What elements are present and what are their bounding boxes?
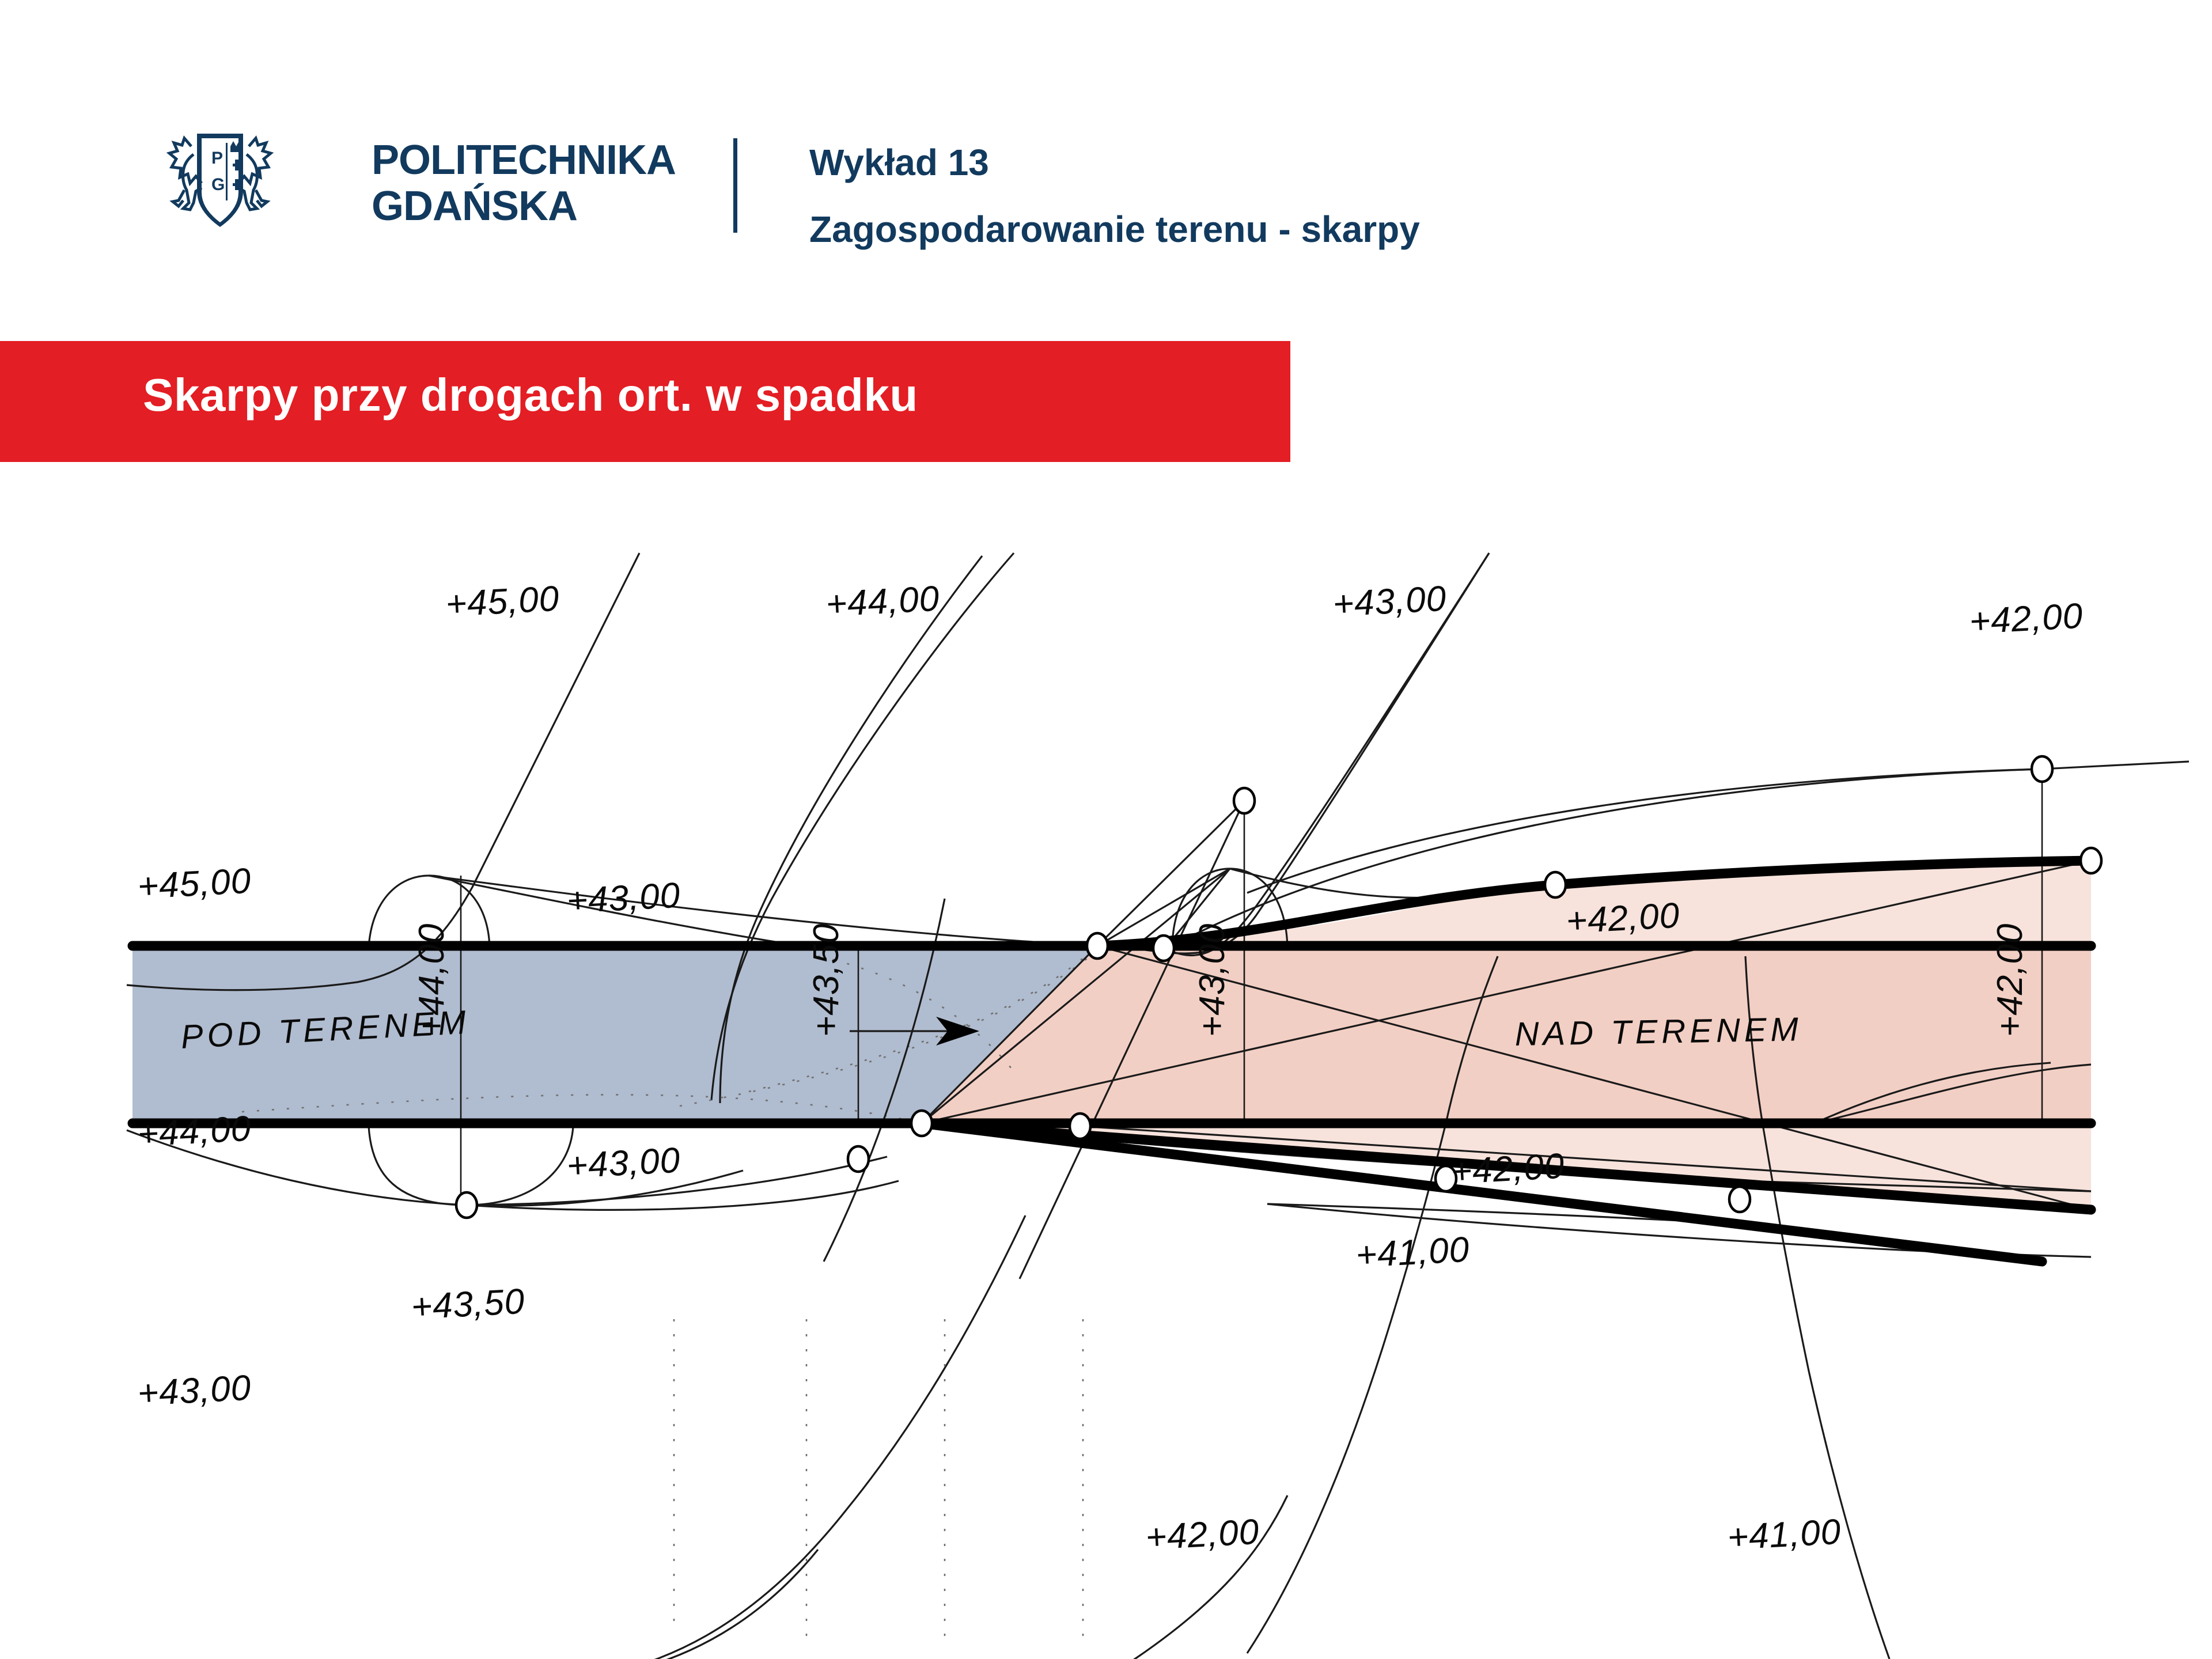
node-point [1545, 872, 1566, 897]
node-point [1153, 935, 1174, 961]
politechnika-gdanska-crest-icon: P G [134, 126, 306, 235]
node-point [1729, 1187, 1750, 1212]
elev-label-vertical: +43,00 [1192, 923, 1232, 1037]
node-point [1070, 1113, 1090, 1139]
page-header: P G POLITECHN [0, 0, 2212, 323]
node-point [1087, 933, 1108, 959]
contour-435-lower [536, 1215, 1025, 1659]
node-point [456, 1192, 477, 1218]
contour-45-upper [127, 553, 639, 990]
contour-43-upper-left-2 [429, 876, 1097, 946]
contour-41-bottom [1763, 1124, 1889, 1659]
elev-label: +42,00 [1145, 1512, 1260, 1558]
contour-435-lower-b [536, 1550, 818, 1659]
section-title-text: Skarpy przy drogach ort. w spadku [143, 369, 918, 422]
node-point [2081, 848, 2101, 873]
university-name-line1: POLITECHNIKA [372, 137, 676, 183]
section-title-banner: Skarpy przy drogach ort. w spadku [0, 341, 1290, 462]
elev-label: +43,00 [566, 1141, 681, 1186]
university-name-line2: GDAŃSKA [372, 183, 676, 229]
university-wordmark: POLITECHNIKA GDAŃSKA [372, 137, 676, 229]
header-vertical-divider [733, 138, 737, 233]
lecture-number: Wykład 13 [809, 140, 1420, 185]
svg-text:G: G [211, 175, 225, 194]
elev-label: +41,00 [1726, 1512, 1842, 1558]
elev-label-vertical: +44,00 [412, 923, 452, 1037]
elev-label: +45,00 [445, 579, 560, 624]
elev-label: +43,00 [137, 1368, 252, 1414]
elev-label: +42,00 [1450, 1146, 1566, 1192]
node-point [2032, 756, 2052, 782]
contour-42-top-arc-c [2042, 762, 2189, 769]
node-point [1234, 788, 1255, 813]
elev-label: +42,00 [1968, 596, 2084, 642]
elev-label: +42,00 [1565, 896, 1681, 941]
elev-label: +44,00 [825, 579, 941, 624]
elev-label: +45,00 [137, 861, 252, 907]
technical-drawing: POD TERENEM NAD TERENEM +45,00 +44,00 +4… [0, 495, 2212, 1659]
zone-label-nad-terenem: NAD TERENEM [1514, 1010, 1802, 1053]
node-point [848, 1146, 869, 1172]
node-point [911, 1111, 932, 1136]
elev-label-vertical: +43,50 [806, 923, 846, 1037]
elev-label: +41,00 [1355, 1230, 1471, 1275]
contour-42-bottom [1247, 1123, 1446, 1653]
elev-label: +43,00 [1332, 579, 1448, 624]
elev-label: +43,50 [410, 1282, 526, 1327]
elev-label: +43,00 [566, 876, 681, 921]
slope-diagram-svg: POD TERENEM NAD TERENEM +45,00 +44,00 +4… [0, 495, 2212, 1659]
elev-label: +44,00 [137, 1109, 252, 1154]
region-nad-terenem [922, 945, 2091, 1123]
lecture-title: Zagospodarowanie terenu - skarpy [809, 207, 1420, 252]
elev-label-vertical: +42,00 [1990, 923, 2030, 1037]
header-text-block: Wykład 13 Zagospodarowanie terenu - skar… [809, 140, 1420, 252]
svg-text:P: P [211, 149, 223, 168]
